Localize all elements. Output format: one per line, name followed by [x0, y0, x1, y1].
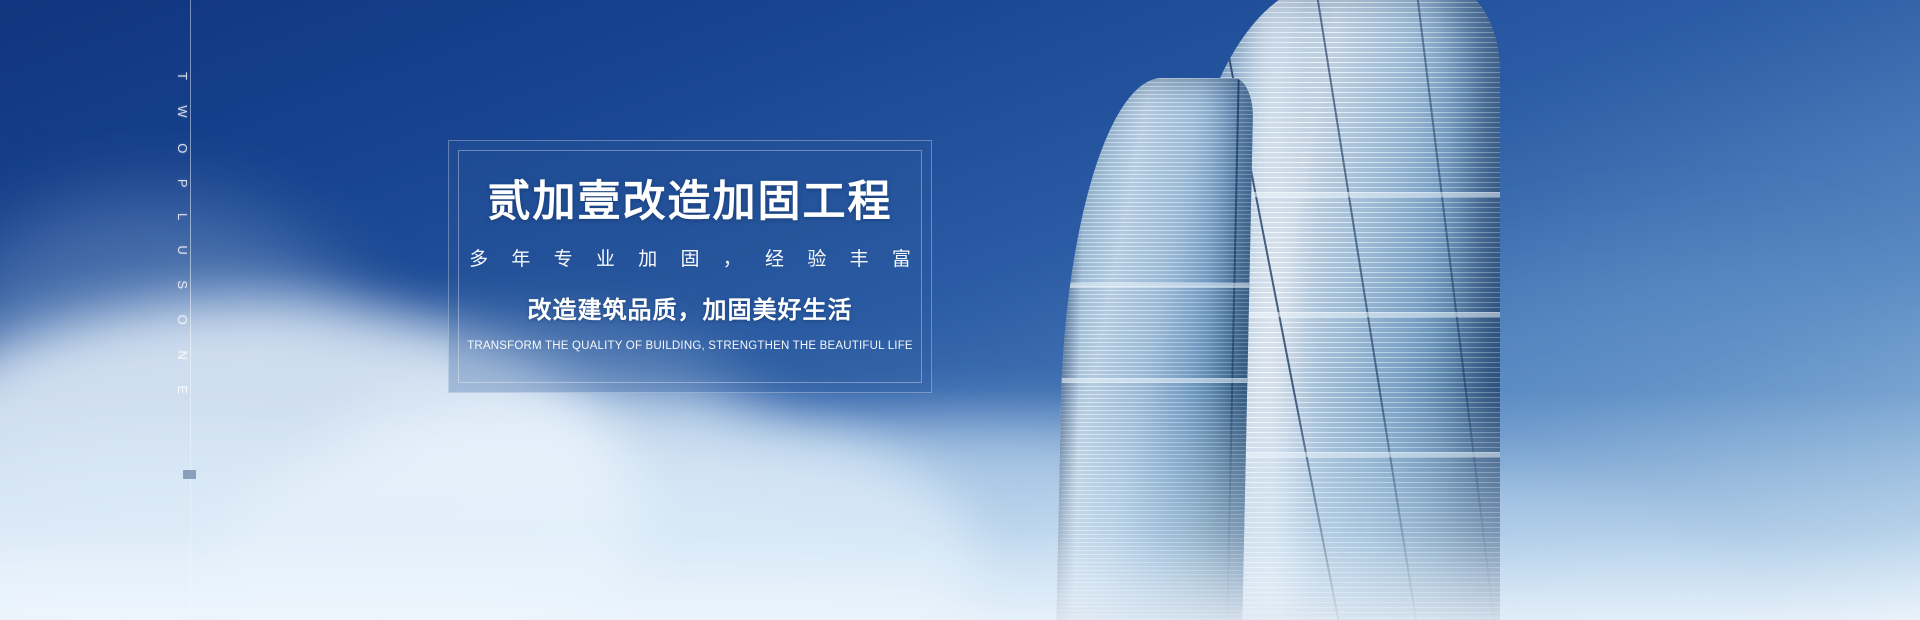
- hero-tagline-english: TRANSFORM THE QUALITY OF BUILDING, STREN…: [467, 341, 913, 353]
- brand-divider: [190, 0, 191, 620]
- hero-tagline: 改造建筑品质，加固美好生活: [528, 299, 853, 323]
- facade-band: [1063, 283, 1249, 288]
- hero-text-panel: 贰加壹改造加固工程 多 年 专 业 加 固 ， 经 验 丰 富 改造建筑品质，加…: [448, 140, 932, 393]
- hero-subheadline: 多 年 专 业 加 固 ， 经 验 丰 富: [460, 250, 920, 269]
- facade-band: [1061, 378, 1247, 383]
- hero-headline: 贰加壹改造加固工程: [488, 181, 893, 224]
- hero-banner: T W O P L U S O N E 贰加壹改造加固工程 多 年 专 业 加 …: [0, 0, 1920, 620]
- brand-vertical-text: T W O P L U S O N E: [175, 72, 190, 405]
- brand-mark: [183, 470, 196, 479]
- cloud-haze-bottom: [0, 390, 1920, 620]
